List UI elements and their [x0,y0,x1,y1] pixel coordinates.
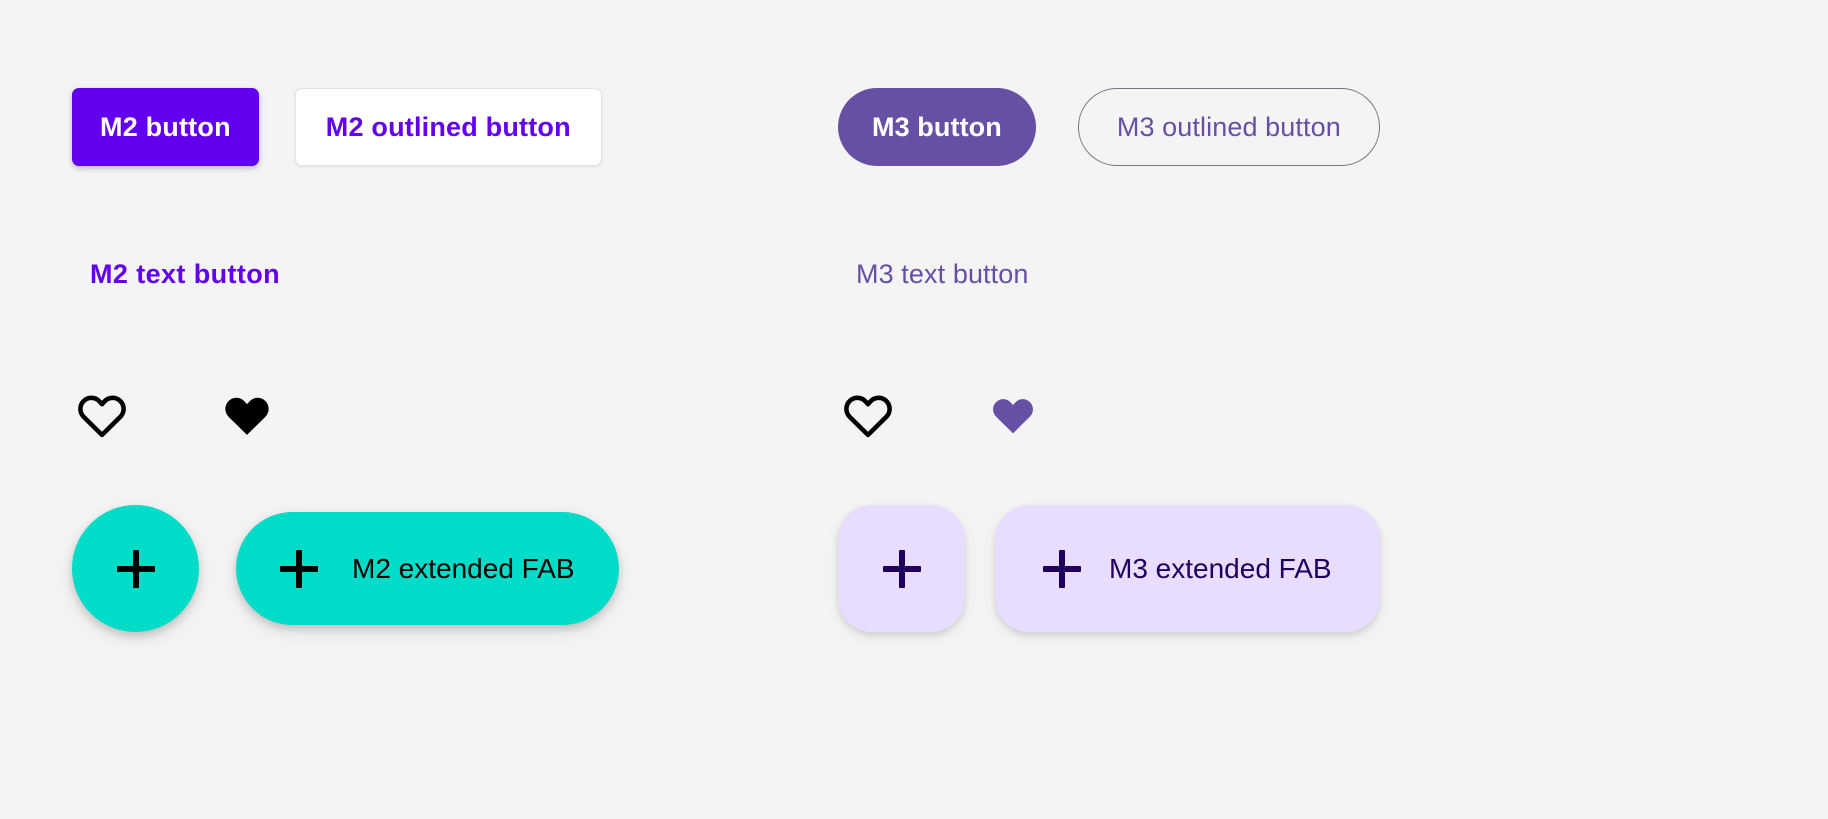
plus-icon [883,550,921,588]
m3-fab-button[interactable] [838,505,965,632]
plus-icon [280,550,318,588]
m3-text-button[interactable]: M3 text button [838,249,1047,300]
m2-fabs-row: M2 extended FAB [72,505,619,632]
m2-buttons-row: M2 button M2 outlined button [72,88,602,166]
m2-text-button[interactable]: M2 text button [72,249,298,300]
m3-filled-button[interactable]: M3 button [838,88,1036,166]
heart-outline-icon [76,391,128,439]
m3-extended-fab-button[interactable]: M3 extended FAB [995,505,1380,632]
m3-text-button-row: M3 text button [838,249,1047,300]
m2-fab-button[interactable] [72,505,199,632]
heart-filled-icon [221,391,273,439]
comparison-stage: M2 button M2 outlined button M2 text but… [0,0,1828,819]
plus-icon [117,550,155,588]
m3-heart-filled-icon-button[interactable] [983,385,1043,445]
m3-icons-row [838,385,1043,445]
m2-extended-fab-button[interactable]: M2 extended FAB [236,512,619,625]
m3-extended-fab-label: M3 extended FAB [1109,553,1332,585]
m3-buttons-row: M3 button M3 outlined button [838,88,1380,166]
m2-text-button-row: M2 text button [72,249,298,300]
heart-filled-icon [989,393,1037,437]
plus-icon [1043,550,1081,588]
m2-heart-outline-icon-button[interactable] [72,385,132,445]
m2-outlined-button[interactable]: M2 outlined button [295,88,602,166]
m3-heart-outline-icon-button[interactable] [838,385,898,445]
m2-icons-row [72,385,277,445]
heart-outline-icon [842,391,894,439]
m2-extended-fab-label: M2 extended FAB [352,553,575,585]
m3-outlined-button[interactable]: M3 outlined button [1078,88,1380,166]
m2-contained-button[interactable]: M2 button [72,88,259,166]
m2-heart-filled-icon-button[interactable] [217,385,277,445]
m3-fabs-row: M3 extended FAB [838,505,1380,632]
